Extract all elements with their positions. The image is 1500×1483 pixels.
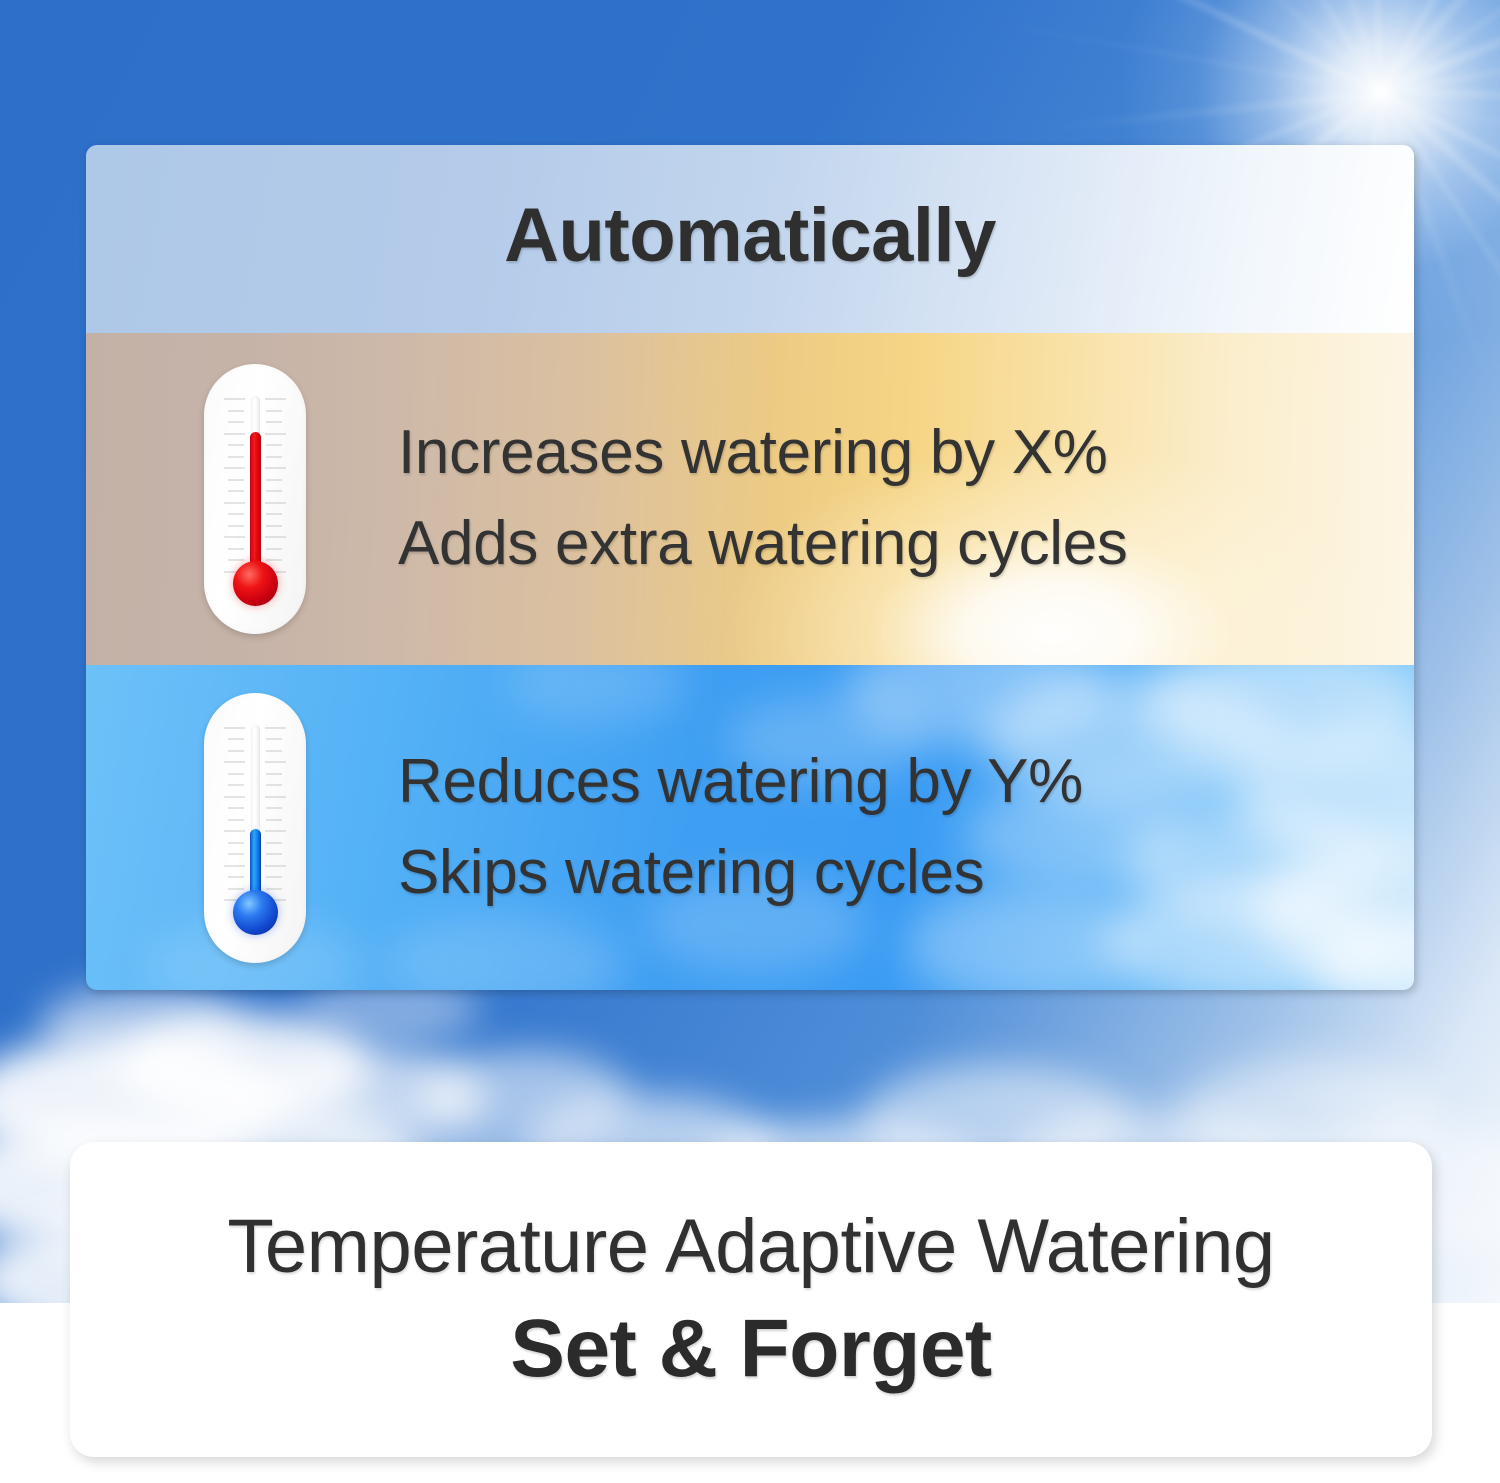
caption-primary: Temperature Adaptive Watering [227, 1203, 1274, 1290]
thermometer-tick [266, 525, 282, 527]
thermometer-tick [266, 410, 282, 412]
thermometer-tick [266, 513, 282, 515]
page-title: Automatically [504, 192, 996, 279]
thermometer-tick [228, 738, 244, 740]
cloud-puff [40, 985, 240, 1065]
thermometer-tick [228, 525, 244, 527]
thermometer-tick [266, 784, 282, 786]
thermometer-tick [224, 761, 245, 763]
thermometer-tick [266, 888, 282, 890]
thermometer-tick [224, 433, 245, 435]
thermometer-tick [265, 727, 286, 729]
thermometer-bulb-cold [233, 890, 278, 935]
cloud-wisp [1256, 840, 1414, 980]
caption-secondary: Set & Forget [510, 1302, 991, 1396]
thermometer-tick [266, 876, 282, 878]
cloud-wisp [1146, 665, 1414, 765]
thermometer-tick [228, 479, 244, 481]
cloud-wisp [1236, 725, 1414, 865]
thermometer-tick [265, 433, 286, 435]
thermometer-tick [228, 784, 244, 786]
promo-graphic-root: Automatically Increases watering by X% A… [0, 0, 1500, 1483]
cloud-wisp [506, 665, 686, 725]
thermometer-tick [266, 750, 282, 752]
thermometer-tick [228, 876, 244, 878]
thermometer-tick [224, 830, 245, 832]
cold-band-line-2: Skips watering cycles [398, 828, 1083, 919]
cloud-wisp [846, 665, 1106, 745]
thermometer-cold-icon [204, 693, 306, 963]
thermometer-tick [265, 398, 286, 400]
thermometer-tick [228, 842, 244, 844]
sun-ray [848, 0, 1381, 96]
thermometer-tick [224, 796, 245, 798]
thermometer-tick [228, 807, 244, 809]
thermometer-tick [266, 819, 282, 821]
thermometer-tick [266, 548, 282, 550]
thermometer-tick [266, 444, 282, 446]
thermometer-tick [266, 559, 282, 561]
cold-band-text: Reduces watering by Y% Skips watering cy… [398, 737, 1083, 918]
thermometer-tick [266, 807, 282, 809]
thermometer-tick [228, 773, 244, 775]
thermometer-tick [265, 796, 286, 798]
thermometer-tick [265, 865, 286, 867]
thermometer-tick [228, 421, 244, 423]
caption-card: Temperature Adaptive Watering Set & Forg… [70, 1142, 1432, 1457]
thermometer-tick [265, 830, 286, 832]
thermometer-tick [228, 456, 244, 458]
thermometer-tick [228, 750, 244, 752]
thermometer-tick [228, 559, 244, 561]
thermometer-bulb-hot [233, 561, 278, 606]
thermometer-tick [266, 456, 282, 458]
thermometer-tick [266, 853, 282, 855]
sun-ray [895, 4, 1381, 94]
thermometer-tick [266, 842, 282, 844]
thermometer-tick [224, 536, 245, 538]
thermometer-tick [265, 467, 286, 469]
cloud-wisp [1316, 915, 1414, 990]
thermometer-tick [265, 761, 286, 763]
cloud-wisp [1126, 805, 1386, 925]
thermometer-tick [266, 479, 282, 481]
thermometer-tick [228, 444, 244, 446]
thermometer-tick [228, 888, 244, 890]
thermometer-hot-icon [204, 364, 306, 634]
thermometer-tick [265, 502, 286, 504]
hot-band-text: Increases watering by X% Adds extra wate… [398, 408, 1128, 589]
cloud-wisp [1106, 880, 1386, 990]
thermometer-tick [228, 853, 244, 855]
hot-band-line-2: Adds extra watering cycles [398, 499, 1128, 590]
feature-card-header: Automatically [86, 145, 1414, 333]
thermometer-tick [228, 490, 244, 492]
thermometer-tick [228, 410, 244, 412]
thermometer-tick [224, 398, 245, 400]
thermometer-tick [228, 548, 244, 550]
thermometer-mercury-hot [250, 432, 261, 572]
hot-weather-band: Increases watering by X% Adds extra wate… [86, 333, 1414, 665]
thermometer-tick [224, 865, 245, 867]
feature-card: Automatically Increases watering by X% A… [86, 145, 1414, 990]
thermometer-tick [228, 513, 244, 515]
thermometer-tick [228, 819, 244, 821]
cloud-wisp [386, 915, 626, 990]
thermometer-tick [224, 467, 245, 469]
thermometer-tick [224, 727, 245, 729]
thermometer-tick [266, 421, 282, 423]
thermometer-tick [224, 502, 245, 504]
hot-band-line-1: Increases watering by X% [398, 408, 1128, 499]
thermometer-tick [266, 773, 282, 775]
thermometer-tick [266, 490, 282, 492]
cold-band-line-1: Reduces watering by Y% [398, 737, 1083, 828]
thermometer-tick [266, 738, 282, 740]
thermometer-tick [265, 536, 286, 538]
cold-weather-band: Reduces watering by Y% Skips watering cy… [86, 665, 1414, 990]
